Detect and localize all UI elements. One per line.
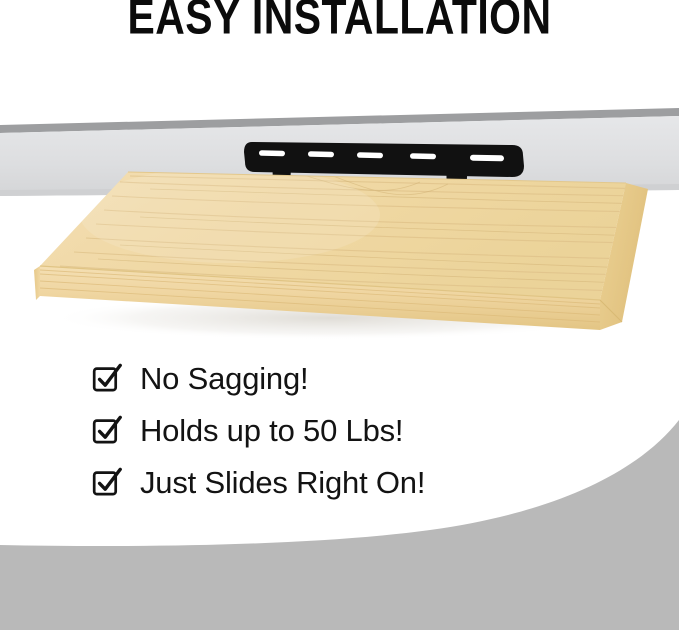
- list-item-label: No Sagging!: [140, 363, 308, 394]
- installation-illustration: [0, 0, 679, 360]
- list-item-label: Holds up to 50 Lbs!: [140, 415, 403, 446]
- checkbox-checked-icon: [92, 466, 122, 498]
- feature-list: No Sagging! Holds up to 50 Lbs! Just Sli…: [92, 352, 612, 508]
- checkbox-checked-icon: [92, 414, 122, 446]
- promo-image-stage: EASY INSTALLATION: [0, 0, 679, 630]
- checkbox-checked-icon: [92, 362, 122, 394]
- list-item: Just Slides Right On!: [92, 456, 612, 508]
- list-item: Holds up to 50 Lbs!: [92, 404, 612, 456]
- list-item-label: Just Slides Right On!: [140, 467, 425, 498]
- list-item: No Sagging!: [92, 352, 612, 404]
